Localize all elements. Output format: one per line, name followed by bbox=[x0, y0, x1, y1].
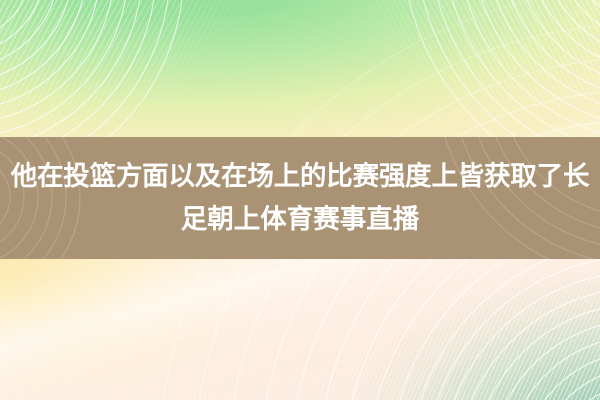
caption-line-1: 他在投篮方面以及在场上的比赛强度上皆获取了长 bbox=[0, 155, 600, 198]
caption-line-2: 足朝上体育赛事直播 bbox=[0, 198, 600, 241]
sports-banner-image: 他在投篮方面以及在场上的比赛强度上皆获取了长 足朝上体育赛事直播 bbox=[0, 0, 600, 400]
caption-band: 他在投篮方面以及在场上的比赛强度上皆获取了长 足朝上体育赛事直播 bbox=[0, 137, 600, 259]
